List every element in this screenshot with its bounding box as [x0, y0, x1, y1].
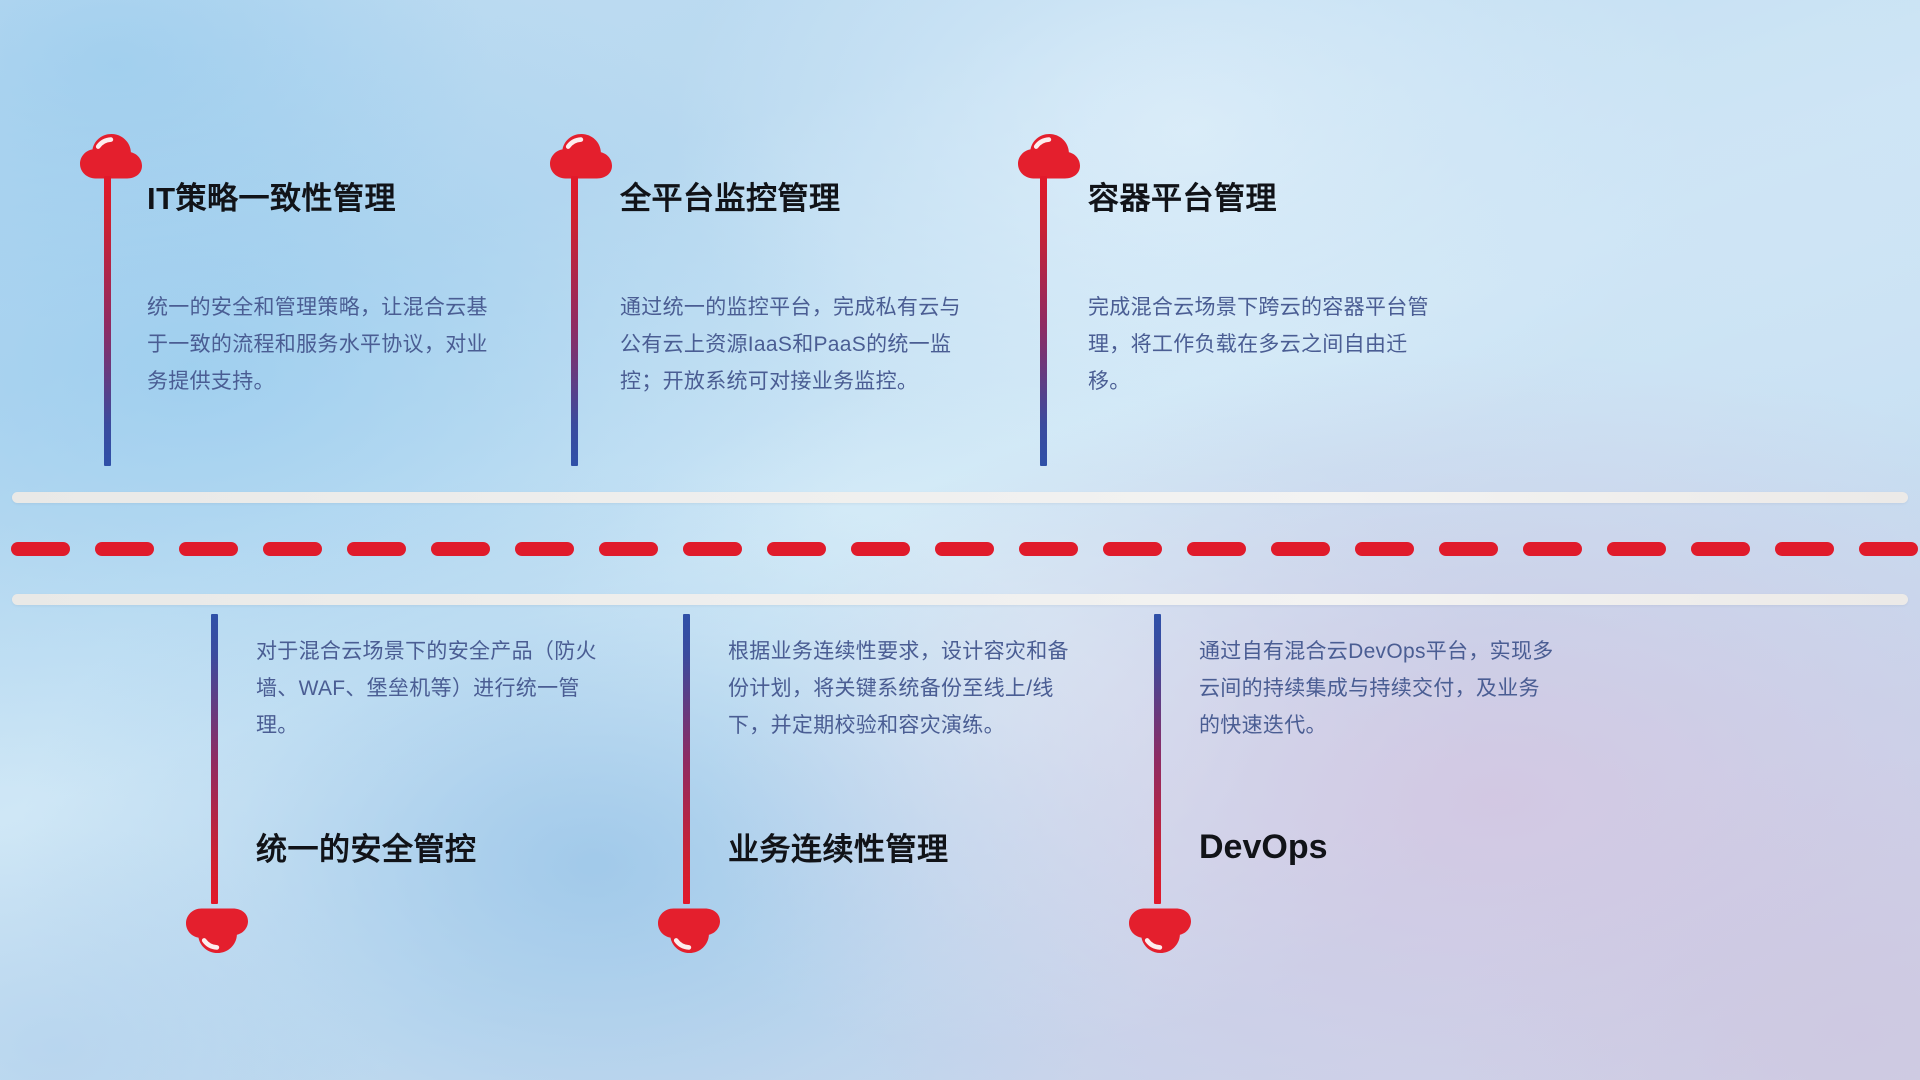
dash-segment [683, 542, 742, 556]
dash-segment [1019, 542, 1078, 556]
dashed-separator-line [11, 542, 1911, 556]
dash-segment [1355, 542, 1414, 556]
cloud-icon [80, 134, 142, 179]
dash-segment [515, 542, 574, 556]
cloud-icon [186, 908, 248, 953]
feature-title: IT策略一致性管理 [147, 183, 396, 214]
feature-title: 全平台监控管理 [620, 183, 841, 214]
dash-segment [1523, 542, 1582, 556]
feature-description: 统一的安全和管理策略，让混合云基于一致的流程和服务水平协议，对业务提供支持。 [147, 289, 497, 400]
feature-title: 统一的安全管控 [256, 834, 477, 865]
feature-title: 业务连续性管理 [728, 834, 949, 865]
cloud-icon [658, 908, 720, 953]
dash-segment [851, 542, 910, 556]
dash-segment [1607, 542, 1666, 556]
dash-segment [1271, 542, 1330, 556]
dash-segment [1187, 542, 1246, 556]
dash-segment [347, 542, 406, 556]
connector-rod [571, 176, 578, 466]
dash-segment [599, 542, 658, 556]
dash-segment [1775, 542, 1834, 556]
dash-segment [767, 542, 826, 556]
dash-segment [179, 542, 238, 556]
dash-segment [1439, 542, 1498, 556]
connector-rod [1154, 614, 1161, 904]
cloud-icon [550, 134, 612, 179]
dash-segment [1859, 542, 1918, 556]
feature-title: DevOps [1199, 830, 1328, 864]
feature-title: 容器平台管理 [1088, 183, 1277, 214]
connector-rod [104, 176, 111, 466]
divider-bar-bottom [12, 594, 1908, 605]
dash-segment [935, 542, 994, 556]
connector-rod [1040, 176, 1047, 466]
dash-segment [263, 542, 322, 556]
feature-description: 通过自有混合云DevOps平台，实现多云间的持续集成与持续交付，及业务的快速迭代… [1199, 633, 1559, 744]
dash-segment [95, 542, 154, 556]
divider-bar-top [12, 492, 1908, 503]
dash-segment [1103, 542, 1162, 556]
feature-description: 根据业务连续性要求，设计容灾和备份计划，将关键系统备份至线上/线下，并定期校验和… [728, 633, 1088, 744]
feature-description: 通过统一的监控平台，完成私有云与公有云上资源IaaS和PaaS的统一监控；开放系… [620, 289, 980, 400]
cloud-icon [1018, 134, 1080, 179]
dash-segment [11, 542, 70, 556]
dash-segment [1691, 542, 1750, 556]
feature-description: 完成混合云场景下跨云的容器平台管理，将工作负载在多云之间自由迁移。 [1088, 289, 1448, 400]
cloud-icon [1129, 908, 1191, 953]
connector-rod [683, 614, 690, 904]
feature-description: 对于混合云场景下的安全产品（防火墙、WAF、堡垒机等）进行统一管理。 [256, 633, 616, 744]
dash-segment [431, 542, 490, 556]
connector-rod [211, 614, 218, 904]
infographic-canvas: IT策略一致性管理 统一的安全和管理策略，让混合云基于一致的流程和服务水平协议，… [0, 0, 1920, 1080]
